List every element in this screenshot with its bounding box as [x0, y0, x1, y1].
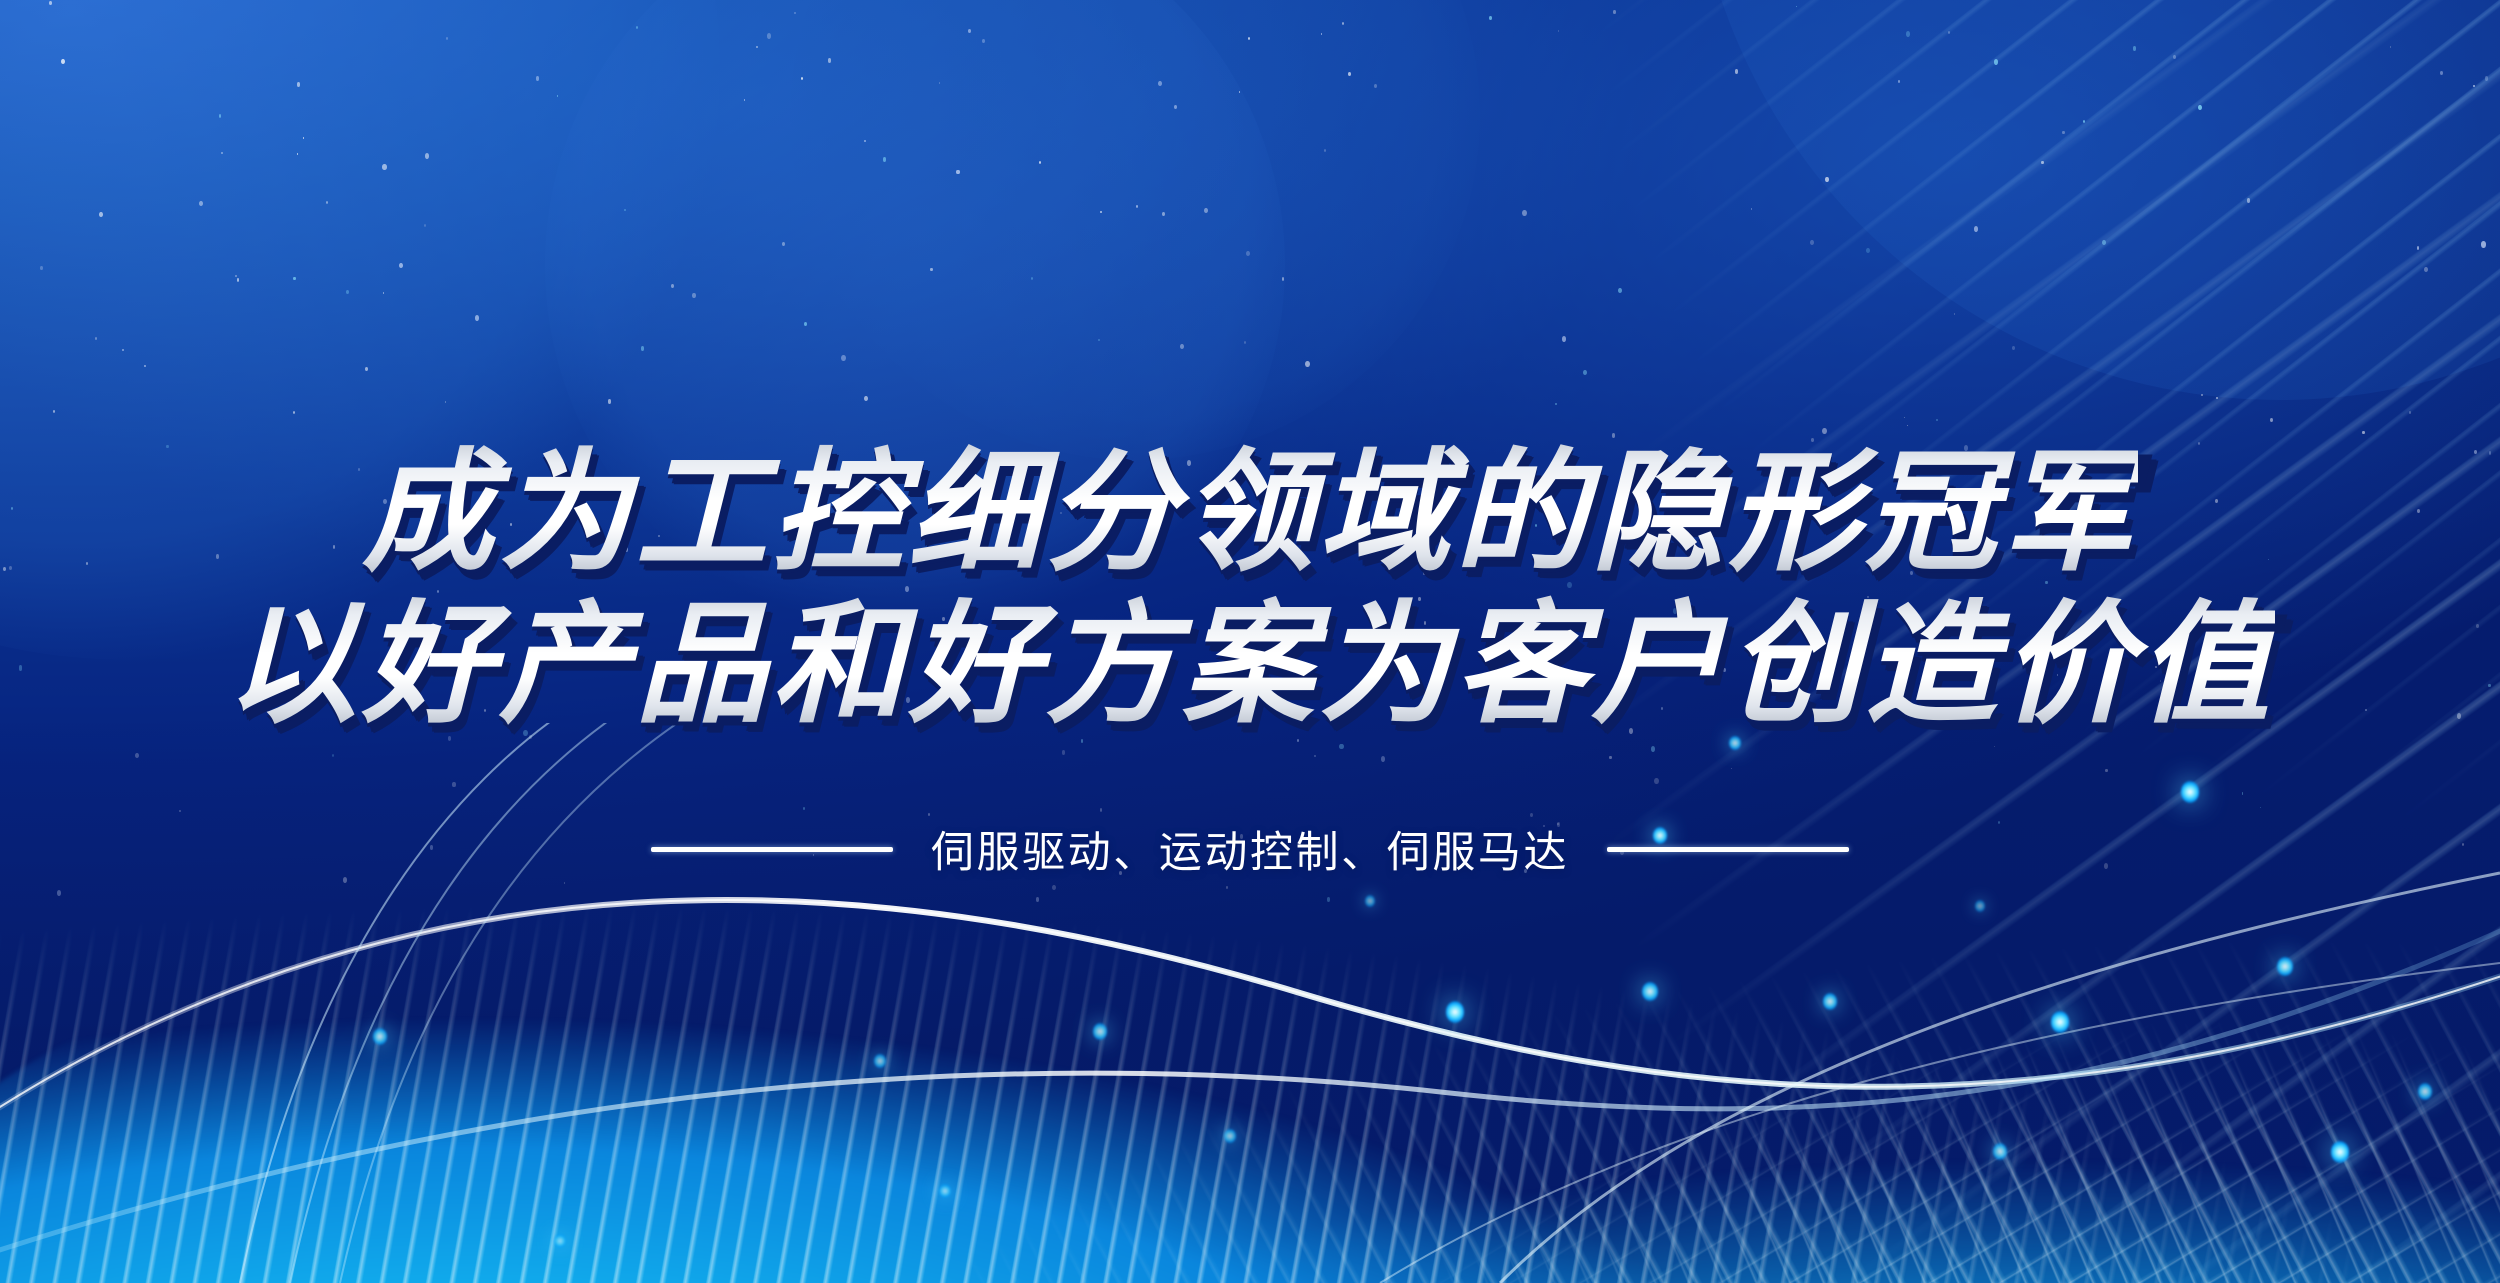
promo-banner: 成为工控细分领域的隐形冠军 成为工控细分领域的隐形冠军 以好产品和好方案为客户创… [0, 0, 2500, 1283]
subtitle-rule-left [651, 847, 893, 852]
subtitle-text: 伺服驱动、运动控制、伺服马达 [931, 818, 1569, 880]
headline-line-2-text: 以好产品和好方案为客户创造价值 [225, 590, 2274, 740]
headline-line-1-text: 成为工控细分领域的隐形冠军 [362, 438, 2138, 588]
banner-content: 成为工控细分领域的隐形冠军 成为工控细分领域的隐形冠军 以好产品和好方案为客户创… [0, 0, 2500, 1283]
subtitle-row: 伺服驱动、运动控制、伺服马达 [0, 818, 2500, 880]
subtitle-rule-right [1607, 847, 1849, 852]
headline-line-1: 成为工控细分领域的隐形冠军 成为工控细分领域的隐形冠军 [0, 438, 2500, 588]
headline-line-2: 以好产品和好方案为客户创造价值 以好产品和好方案为客户创造价值 [0, 590, 2500, 740]
